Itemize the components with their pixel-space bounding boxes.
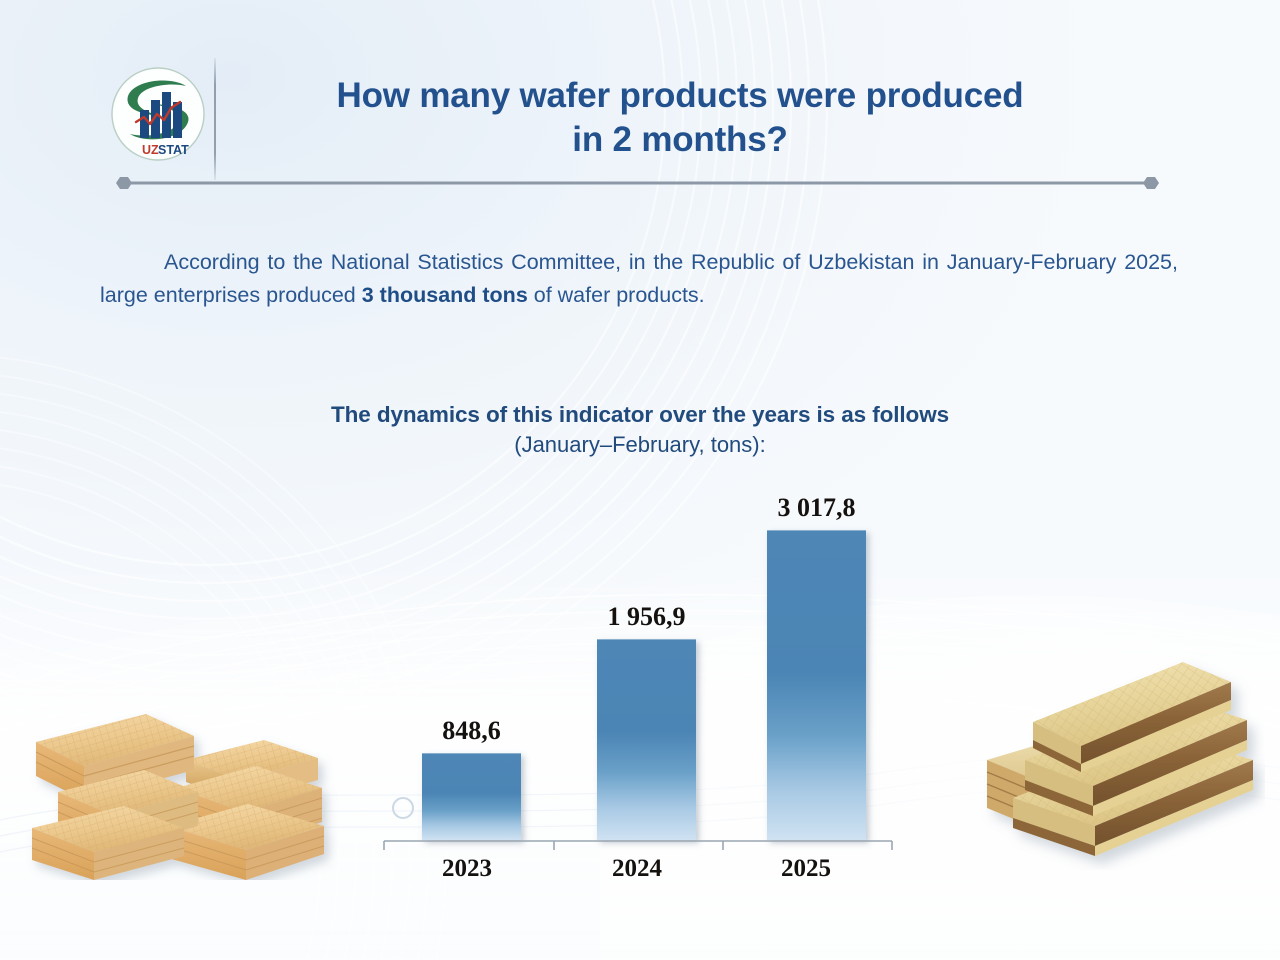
wafer-biscuits-photo-left	[18, 700, 338, 880]
bar-value-label-2024: 1 956,9	[608, 602, 686, 632]
header-rule	[110, 175, 1165, 191]
chart-heading: The dynamics of this indicator over the …	[190, 400, 1090, 460]
bar-column-2023[interactable]: 848,6	[422, 753, 521, 840]
decorative-circle-icon	[392, 797, 414, 819]
chart-heading-line2: (January–February, tons):	[190, 430, 1090, 460]
hexagon-icon-left	[116, 177, 132, 189]
chart-heading-line1: The dynamics of this indicator over the …	[190, 400, 1090, 430]
infographic-slide: UZ STAT How many wafer products were pro…	[0, 0, 1280, 960]
bar-chart: 848,6 1 956,9 3 017,8 2023 2024 20	[378, 495, 898, 885]
header-vertical-divider	[214, 58, 216, 180]
category-label-2024: 2024	[552, 855, 722, 883]
page-title-line1: How many wafer products were produced	[240, 74, 1120, 118]
lede-highlight: 3 thousand tons	[362, 283, 528, 307]
hexagon-icon-right	[1143, 177, 1159, 189]
bar-fill-2023: 848,6	[422, 753, 521, 840]
wafer-bars-photo-right	[975, 640, 1265, 870]
lede-text-part2: of wafer products.	[528, 283, 705, 307]
page-title-line2: in 2 months?	[240, 118, 1120, 162]
bar-value-label-2023: 848,6	[442, 716, 501, 746]
chart-x-axis	[382, 839, 894, 851]
category-label-2025: 2025	[721, 855, 891, 883]
logo-wordmark-uz: UZ	[142, 143, 159, 157]
bar-column-2024[interactable]: 1 956,9	[597, 639, 696, 840]
page-title: How many wafer products were produced in…	[240, 74, 1120, 162]
chart-plot-area: 848,6 1 956,9 3 017,8	[378, 495, 898, 840]
category-label-2023: 2023	[382, 855, 552, 883]
bar-fill-2024: 1 956,9	[597, 639, 696, 840]
bar-value-label-2025: 3 017,8	[778, 493, 856, 523]
bar-fill-2025: 3 017,8	[767, 530, 866, 840]
lede-paragraph: According to the National Statistics Com…	[100, 246, 1178, 312]
bar-column-2025[interactable]: 3 017,8	[767, 530, 866, 840]
logo-wordmark-stat: STAT	[158, 143, 189, 157]
uzstat-logo: UZ STAT	[108, 64, 208, 164]
